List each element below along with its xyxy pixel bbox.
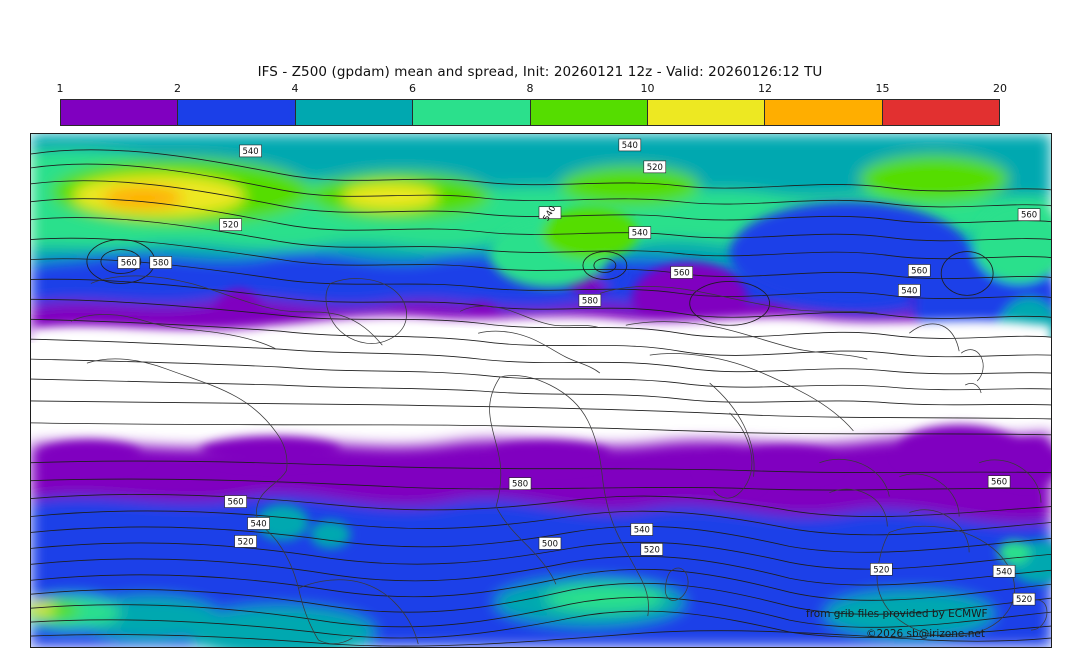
svg-text:560: 560 [228,497,244,507]
colorbar-tick-1: 2 [174,82,181,95]
colorbar-swatch-1-2 [61,100,177,125]
colorbar-swatch-15-20 [882,100,999,125]
colorbar-swatch-2-4 [177,100,294,125]
svg-text:580: 580 [512,479,528,489]
colorbar-swatch-12-15 [764,100,881,125]
colorbar-tick-5: 10 [641,82,655,95]
colorbar-swatches [60,99,1000,126]
svg-text:520: 520 [644,544,660,554]
svg-text:560: 560 [674,267,690,277]
colorbar-tick-labels: 1 2 4 6 8 10 12 15 20 [60,82,1000,98]
copyright-credit: ©2026 sb@irizone.net [866,628,985,640]
colorbar-tick-7: 15 [876,82,890,95]
colorbar-swatch-4-6 [295,100,412,125]
svg-text:520: 520 [237,536,253,546]
colorbar-tick-2: 4 [292,82,299,95]
colorbar-tick-6: 12 [758,82,772,95]
svg-text:560: 560 [1021,210,1037,220]
map-canvas: 540 540 520 520 [31,134,1051,647]
svg-text:540: 540 [632,228,648,238]
svg-text:540: 540 [242,146,258,156]
svg-text:580: 580 [153,257,169,267]
weather-map-page: IFS - Z500 (gpdam) mean and spread, Init… [0,0,1080,658]
colorbar-swatch-6-8 [412,100,529,125]
svg-text:540: 540 [901,285,917,295]
svg-text:540: 540 [250,518,266,528]
svg-text:500: 500 [542,538,558,548]
svg-text:540: 540 [622,140,638,150]
colorbar: 1 2 4 6 8 10 12 15 20 [60,82,1000,128]
colorbar-tick-0: 1 [57,82,64,95]
svg-text:520: 520 [1016,594,1032,604]
svg-text:520: 520 [873,564,889,574]
svg-text:560: 560 [991,477,1007,487]
svg-text:560: 560 [121,257,137,267]
svg-text:580: 580 [582,295,598,305]
svg-text:560: 560 [911,265,927,275]
svg-text:540: 540 [996,566,1012,576]
colorbar-tick-4: 8 [527,82,534,95]
page-title: IFS - Z500 (gpdam) mean and spread, Init… [0,64,1080,80]
colorbar-tick-8: 20 [993,82,1007,95]
colorbar-swatch-10-12 [647,100,764,125]
map-panel[interactable]: 540 540 520 520 [30,133,1052,648]
data-source-credit: from grib files provided by ECMWF [806,608,988,620]
colorbar-swatch-8-10 [530,100,647,125]
colorbar-tick-3: 6 [409,82,416,95]
svg-text:520: 520 [647,162,663,172]
svg-text:520: 520 [223,220,239,230]
svg-text:540: 540 [634,524,650,534]
